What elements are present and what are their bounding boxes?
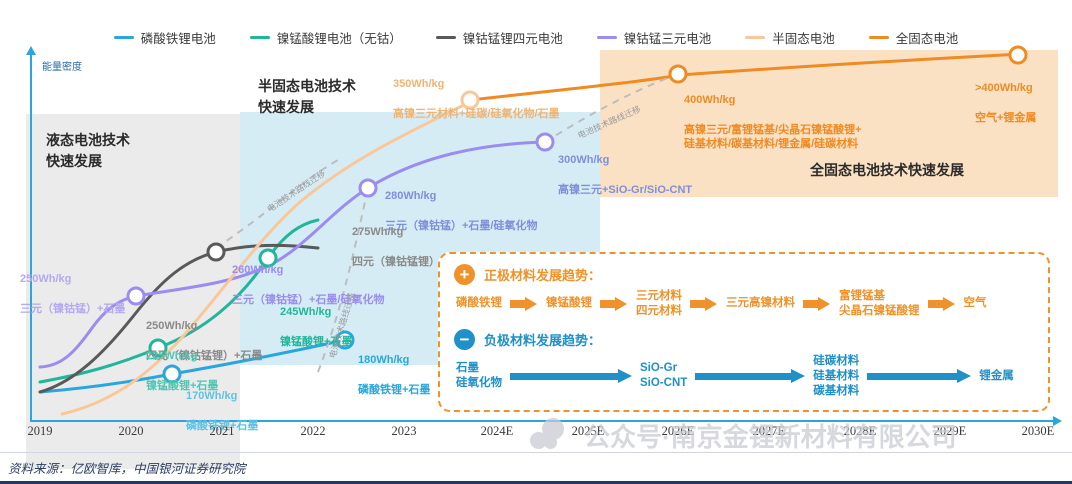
xtick-2021: 2021	[210, 424, 235, 439]
label-180-value: 180Wh/kg	[358, 354, 409, 366]
node-ncm-2020[interactable]	[127, 287, 146, 306]
cathode-step-5: 空气	[964, 296, 987, 311]
label-250-ncm-value: 250Wh/kg	[20, 273, 71, 285]
xtick-2030E: 2030E	[1022, 424, 1055, 439]
anode-trend-row: 石墨 硅氧化物 SiO-Gr SiO-CNT 硅碳材料 硅基材料 碳基材料 锂金…	[456, 354, 1034, 399]
label-300-material: 高镍三元+SiO-Gr/SiO-CNT	[558, 184, 692, 196]
xtick-2028E: 2028E	[844, 424, 877, 439]
label-225-value: 225Wh/kg	[146, 350, 197, 362]
cathode-step-1: 镍锰酸锂	[546, 296, 592, 311]
legend-swatch-ncml	[436, 36, 456, 39]
material-trend-box: + 正极材料发展趋势： 磷酸铁锂 镍锰酸锂 三元材料 四元材料 三元高镍材料 富…	[438, 252, 1050, 412]
label-250-ncm: 250Wh/kg 三元（镍钴锰）+石墨	[20, 257, 125, 316]
cathode-step-0: 磷酸铁锂	[456, 296, 502, 311]
label-350: 350Wh/kg 高镍三元材料+硅碳/硅氧化物/石墨	[393, 62, 560, 121]
anode-step-0: 石墨 硅氧化物	[456, 361, 502, 391]
cathode-step-2: 三元材料 四元材料	[636, 289, 682, 319]
xtick-2026E: 2026E	[662, 424, 695, 439]
label-180: 180Wh/kg 磷酸铁锂+石墨	[358, 338, 430, 397]
anode-step-2: 硅碳材料 硅基材料 碳基材料	[813, 354, 859, 399]
node-ncml-2021[interactable]	[207, 243, 226, 262]
anode-trend-title: 负极材料发展趋势：	[484, 330, 601, 349]
legend-item-allsolid[interactable]: 全固态电池	[869, 28, 959, 47]
arrow-right-icon	[695, 369, 805, 383]
arrow-right-icon	[867, 369, 971, 383]
legend-item-ncml[interactable]: 镍钴锰锂四元电池	[436, 28, 563, 47]
label-170-value: 170Wh/kg	[186, 390, 237, 402]
anode-trend-header: − 负极材料发展趋势：	[454, 329, 1034, 350]
legend-item-semisolid[interactable]: 半固态电池	[745, 28, 835, 47]
cathode-step-3: 三元高镍材料	[726, 296, 795, 311]
label-250-ncm-material: 三元（镍钴锰）+石墨	[20, 303, 125, 315]
label-250-ncml-value: 250Wh/kg	[146, 320, 197, 332]
label-245-value: 245Wh/kg	[280, 306, 331, 318]
legend-item-lnmo[interactable]: 镍锰酸锂电池（无钴）	[250, 28, 402, 47]
cathode-trend-header: + 正极材料发展趋势：	[454, 264, 1034, 285]
chart-root: 磷酸铁锂电池 镍锰酸锂电池（无钴） 镍钴锰锂四元电池 镍钴锰三元电池 半固态电池…	[0, 0, 1072, 484]
label-280-value: 280Wh/kg	[385, 190, 436, 202]
node-allsolid-2030[interactable]	[1009, 46, 1028, 65]
legend-swatch-ncm	[597, 36, 617, 39]
label-260-value: 260Wh/kg	[232, 264, 283, 276]
legend-item-ncm[interactable]: 镍钴锰三元电池	[597, 28, 712, 47]
anode-step-3: 锂金属	[979, 369, 1014, 384]
legend-label-ncm: 镍钴锰三元电池	[624, 28, 712, 47]
chart-legend: 磷酸铁锂电池 镍锰酸锂电池（无钴） 镍钴锰锂四元电池 镍钴锰三元电池 半固态电池…	[0, 26, 1072, 48]
legend-item-lfp[interactable]: 磷酸铁锂电池	[114, 28, 216, 47]
plus-icon: +	[454, 264, 475, 285]
legend-label-allsolid: 全固态电池	[896, 28, 959, 47]
source-note: 资料来源：亿欧智库，中国银河证券研究院	[8, 458, 246, 477]
arrow-right-icon	[690, 297, 718, 311]
node-ncm-2025[interactable]	[536, 133, 555, 152]
xtick-2019: 2019	[28, 424, 53, 439]
xtick-2022: 2022	[301, 424, 326, 439]
label-400-material: 高镍三元/富锂锰基/尖晶石镍锰酸锂+ 硅基材料/碳基材料/锂金属/硅碳材料	[684, 124, 862, 151]
xtick-2025E: 2025E	[572, 424, 605, 439]
legend-label-semisolid: 半固态电池	[772, 28, 835, 47]
arrow-right-icon	[510, 297, 538, 311]
label-400plus-material: 空气+锂金属	[975, 112, 1036, 124]
label-275-value: 275Wh/kg	[352, 226, 403, 238]
label-350-value: 350Wh/kg	[393, 78, 444, 90]
arrow-right-icon	[928, 297, 956, 311]
arrow-right-icon	[600, 297, 628, 311]
label-350-material: 高镍三元材料+硅碳/硅氧化物/石墨	[393, 108, 560, 120]
arrow-right-icon	[510, 369, 632, 383]
xtick-2029E: 2029E	[934, 424, 967, 439]
cathode-trend-title: 正极材料发展趋势：	[484, 265, 601, 284]
legend-swatch-lnmo	[250, 36, 270, 39]
label-300: 300Wh/kg 高镍三元+SiO-Gr/SiO-CNT	[558, 138, 692, 197]
xtick-2023: 2023	[392, 424, 417, 439]
label-180-material: 磷酸铁锂+石墨	[358, 384, 430, 396]
legend-label-ncml: 镍钴锰锂四元电池	[463, 28, 563, 47]
node-ncm-2023[interactable]	[359, 179, 378, 198]
x-axis-tick-labels: 2019 2020 2021 2022 2023 2024E 2025E 202…	[0, 424, 1072, 446]
label-400: 400Wh/kg 高镍三元/富锂锰基/尖晶石镍锰酸锂+ 硅基材料/碳基材料/锂金…	[684, 78, 862, 152]
xtick-2020: 2020	[119, 424, 144, 439]
label-400-value: 400Wh/kg	[684, 94, 735, 106]
cathode-trend-row: 磷酸铁锂 镍锰酸锂 三元材料 四元材料 三元高镍材料 富锂锰基 尖晶石镍锰酸锂 …	[456, 289, 1034, 319]
minus-icon: −	[454, 329, 475, 350]
legend-swatch-semisolid	[745, 36, 765, 39]
label-400plus: >400Wh/kg 空气+锂金属	[975, 66, 1036, 125]
footer-divider	[0, 452, 1072, 453]
label-300-value: 300Wh/kg	[558, 154, 609, 166]
legend-swatch-allsolid	[869, 36, 889, 39]
cathode-step-4: 富锂锰基 尖晶石镍锰酸锂	[839, 289, 920, 319]
xtick-2027E: 2027E	[753, 424, 786, 439]
label-400plus-value: >400Wh/kg	[975, 82, 1033, 94]
legend-swatch-lfp	[114, 36, 134, 39]
plot-area: 液态电池技术 快速发展 半固态电池技术 快速发展 全固态电池技术快速发展 能量密…	[0, 52, 1072, 424]
arrow-right-icon	[803, 297, 831, 311]
legend-label-lfp: 磷酸铁锂电池	[141, 28, 216, 47]
anode-step-1: SiO-Gr SiO-CNT	[640, 361, 687, 391]
legend-label-lnmo: 镍锰酸锂电池（无钴）	[277, 28, 402, 47]
xtick-2024E: 2024E	[481, 424, 514, 439]
